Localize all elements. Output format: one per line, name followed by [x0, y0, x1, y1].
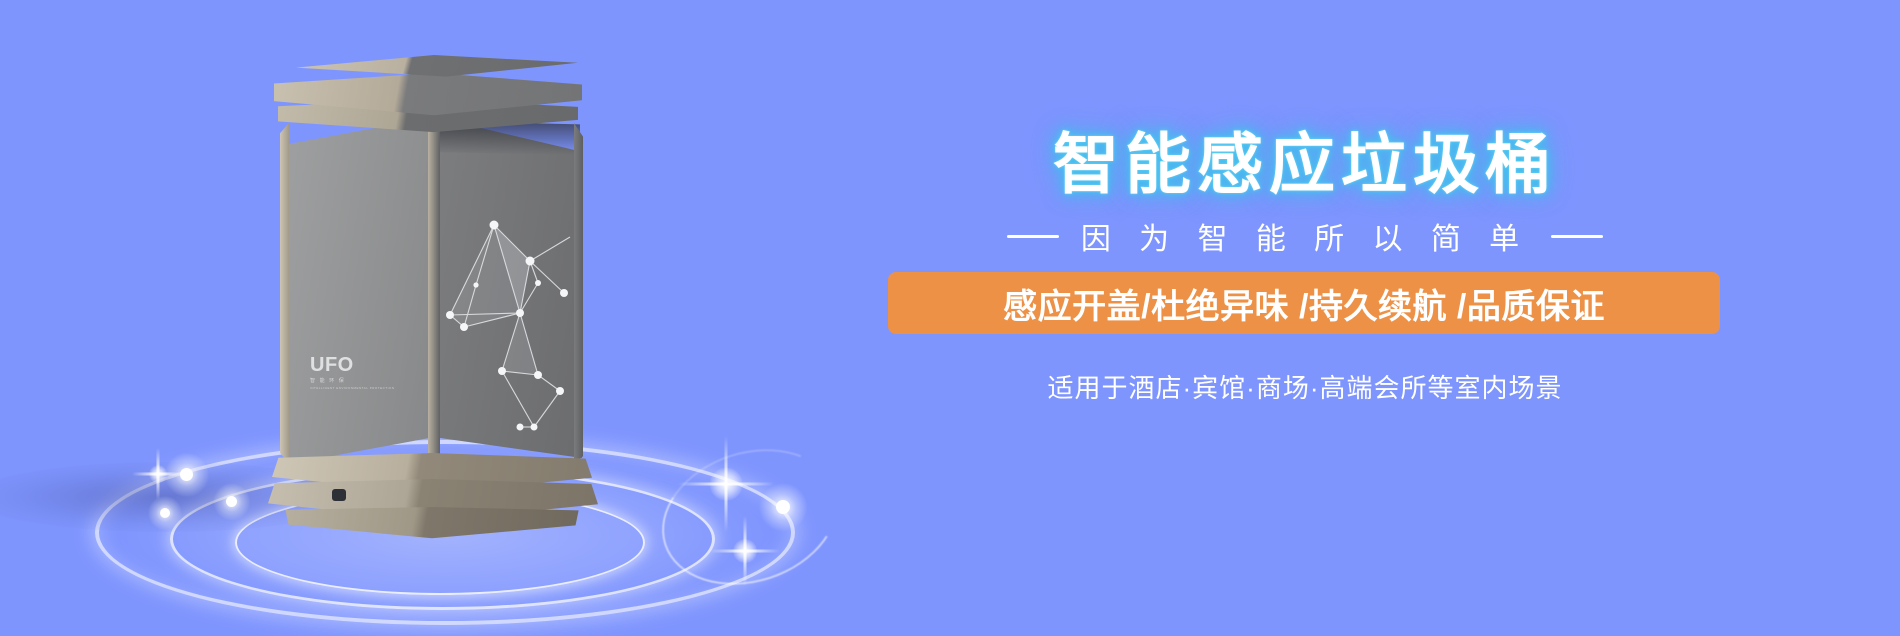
feature-badge: 感应开盖/杜绝异味 /持久续航 /品质保证	[888, 272, 1720, 334]
ring-light-dot	[160, 508, 170, 518]
subline-text: 因 为 智 能 所 以 简 单	[1081, 214, 1529, 258]
banner-headline: 智能感应垃圾桶	[860, 128, 1750, 200]
smart-trash-bin-image: UFO 智 能 环 保 INTELLIGENT ENVIRONMENTAL PR…	[270, 55, 600, 515]
banner-tagline: 适用于酒店·宾馆·商场·高端会所等室内场景	[860, 368, 1750, 405]
ring-light-dot	[226, 496, 237, 507]
promo-banner: UFO 智 能 环 保 INTELLIGENT ENVIRONMENTAL PR…	[0, 0, 1900, 636]
ring-light-dot	[180, 468, 193, 481]
polygon-network-graphic	[442, 165, 582, 445]
product-stage: UFO 智 能 环 保 INTELLIGENT ENVIRONMENTAL PR…	[0, 0, 900, 636]
subline-rule-right	[1551, 235, 1603, 238]
ufo-brand-logo: UFO 智 能 环 保 INTELLIGENT ENVIRONMENTAL PR…	[310, 355, 400, 421]
bin-base-latch	[332, 489, 346, 501]
brand-english-text: INTELLIGENT ENVIRONMENTAL PROTECTION	[310, 386, 393, 390]
brand-wordmark: UFO	[310, 355, 400, 375]
bin-left-edge-trim	[280, 123, 289, 463]
bin-corner-pillar	[428, 115, 440, 467]
banner-copy-block: 智能感应垃圾桶 因 为 智 能 所 以 简 单 感应开盖/杜绝异味 /持久续航 …	[860, 0, 1900, 636]
feature-badge-text: 感应开盖/杜绝异味 /持久续航 /品质保证	[1003, 279, 1605, 328]
brand-chinese-text: 智 能 环 保	[310, 377, 400, 384]
banner-subline: 因 为 智 能 所 以 简 单	[860, 214, 1750, 258]
subline-rule-left	[1007, 235, 1059, 238]
